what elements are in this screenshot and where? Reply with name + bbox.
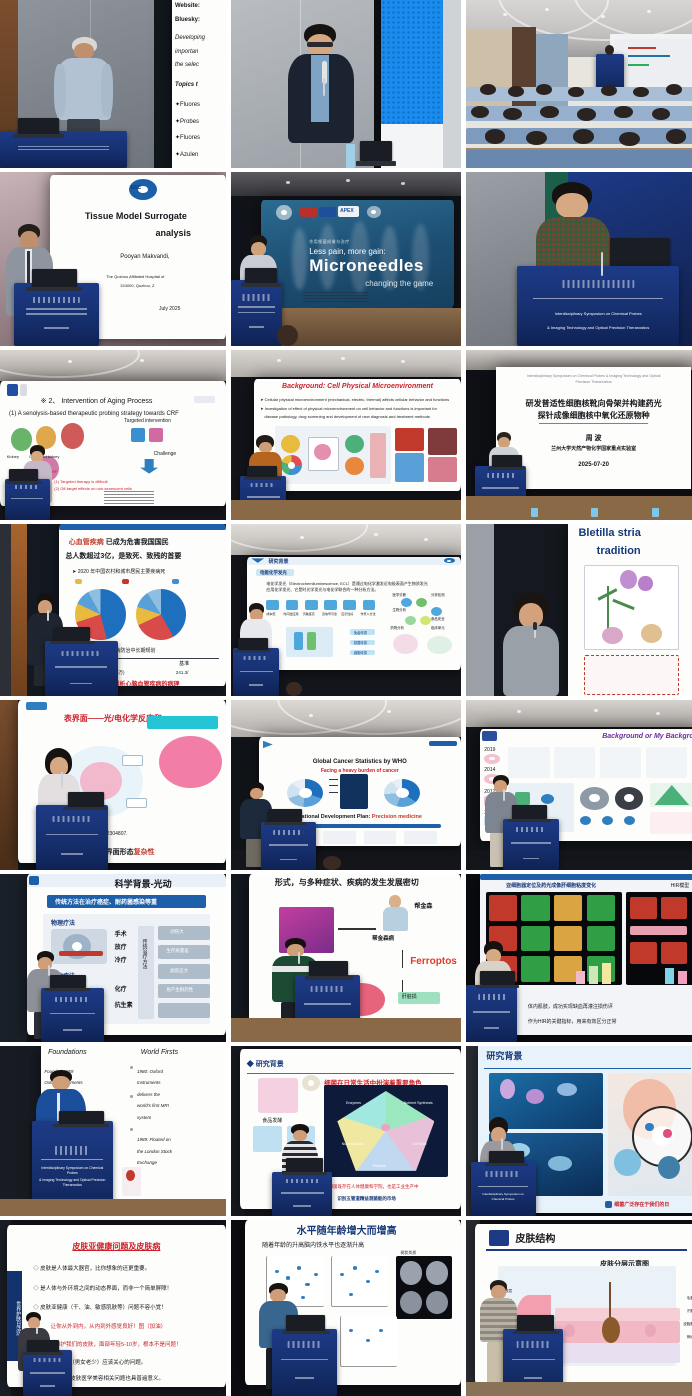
podium-banner-line1: Interdisciplinary Symposium on Chemical …	[476, 1192, 531, 1201]
laptop	[492, 455, 522, 467]
photo-cell[interactable]: 科学背景-光动 传统方法在治疗癌症、耐药菌感染等重 物理疗法 手术 放疗 冷疗 …	[0, 874, 226, 1042]
photo-cell[interactable]: APEX 作用细菌成像与治疗 Less pain, more gain: Mic…	[231, 172, 461, 346]
blue-backdrop	[381, 0, 443, 124]
photo-cell[interactable]: 皮肤结构 皮肤分层示意图 表皮层 真皮层 皮下组织 胆膜层 基底层 毛囊 汗腹	[466, 1220, 692, 1396]
slide-screen: Website: Bluesky: Developing importan th…	[172, 0, 226, 168]
podium	[272, 1329, 336, 1396]
scatter-plot-2	[331, 1256, 388, 1307]
laptop	[480, 971, 515, 984]
speaker	[503, 593, 559, 696]
photo-cell[interactable]: 形式，与多种症状、疾病的发生发展密切 帮金森病 帮金森 Ferroptos 肝脏…	[231, 874, 461, 1042]
photo-cell[interactable]: Background or My Backgro 2019 2014 2012 …	[466, 700, 692, 870]
photo-cell[interactable]: 亚细胞器定位及药光成像肝细胞粘度变化 HIR模型	[466, 874, 692, 1042]
photo-cell[interactable]	[466, 0, 692, 168]
photo-cell[interactable]	[231, 0, 461, 168]
podium	[41, 988, 104, 1042]
laptop	[50, 975, 86, 988]
slide-symposium-line: Interdisciplinary Symposium on Chemical …	[520, 373, 668, 385]
laptop	[286, 1158, 323, 1172]
podium	[503, 819, 559, 870]
podium: Interdisciplinary Symposium on Chemical …	[517, 266, 679, 346]
photo-cell[interactable]: Interdisciplinary Symposium on Chemical …	[466, 350, 692, 520]
laptop	[32, 269, 77, 286]
laptop	[68, 792, 104, 807]
photo-cell[interactable]: Foundations World Firsts Founded 1959 Ox…	[0, 1046, 226, 1216]
laptop	[245, 268, 277, 284]
podium	[272, 1172, 332, 1216]
photo-cell[interactable]: ※ 2、 Intervention of Aging Process (1) A…	[0, 350, 226, 520]
skin-layer-hypodermis	[555, 1343, 680, 1362]
podium	[261, 822, 316, 870]
skin-layer-epidermis	[555, 1308, 680, 1321]
laptop	[59, 1111, 104, 1125]
photo-cell[interactable]: 研究背景 电能化学发光 电化学发光（Electrochemiluminescen…	[231, 524, 461, 696]
laptop	[360, 141, 392, 161]
podium	[5, 479, 50, 520]
photo-cell[interactable]: Interdisciplinary Symposium on Chemical …	[466, 172, 692, 346]
pie-chart-urban	[136, 589, 186, 641]
photo-cell[interactable]: Background: Cell Physical Microenvironme…	[231, 350, 461, 520]
podium-banner-line1: Interdisciplinary Symposium on Chemical …	[38, 1166, 106, 1176]
photo-cell[interactable]: Global Cancer Statistics by WHO Facing a…	[231, 700, 461, 870]
slide-screen: Bletilla stria tradition	[568, 524, 692, 696]
laptop	[9, 469, 38, 481]
laptop	[18, 118, 59, 135]
podium	[45, 641, 117, 696]
laptop	[512, 805, 547, 819]
slide-screen: APEX 作用细菌成像与治疗 Less pain, more gain: Mic…	[261, 200, 454, 308]
donut-chart-2	[384, 779, 420, 807]
laptop	[247, 466, 277, 478]
laptop	[610, 238, 670, 269]
photo-cell[interactable]: 心血管疾病 已成为危害我国国民 总人数超过3亿，是致死、致残的首要 ➤ 2020…	[0, 524, 226, 696]
photo-cell[interactable]: ◆ 研究背景 细菌在日常生活中扮演着重要角色 食品发酵 Enzymes Nutr…	[231, 1046, 461, 1216]
laptop	[54, 627, 90, 641]
podium	[231, 280, 282, 346]
laptop	[286, 1315, 325, 1331]
photo-grid: Website: Bluesky: Developing importan th…	[0, 0, 692, 1384]
photo-cell[interactable]: EEC Tissue Model Surrogate analysis Pooy…	[0, 172, 226, 346]
podium-banner-line2: & Imaging Technology and Optical Precisi…	[525, 325, 671, 331]
podium	[14, 283, 100, 346]
laptop	[517, 1315, 554, 1331]
laptop	[309, 961, 348, 976]
speaker	[286, 24, 355, 168]
podium	[36, 805, 108, 870]
laptop	[27, 1340, 59, 1352]
podium	[233, 648, 279, 696]
photo-cell[interactable]: 表界面——光/电化学反应和 0, 2304807. 结构和界面形态复杂性	[0, 700, 226, 870]
podium	[466, 985, 517, 1042]
donut-chart-1	[287, 779, 323, 807]
podium-banner-line2: & Imaging Technology and Optical Precisi…	[36, 1178, 109, 1188]
podium	[23, 1350, 73, 1396]
photo-cell[interactable]: Website: Bluesky: Developing importan th…	[0, 0, 226, 168]
slide-screen: 研究背景 电能化学发光 电化学发光（Electrochemiluminescen…	[247, 557, 461, 671]
photo-cell[interactable]: 研究背景 细菌广泛存在于我们的日	[466, 1046, 692, 1216]
photo-cell[interactable]: 水平随年龄增大而增高 随着年龄的升高脑内铁水平也逐渐升高	[231, 1220, 461, 1396]
photo-cell[interactable]: 世界护肤日活动 皮肤亚健康问题及皮肤病 ◇ 皮肤是人体最大器官，比你想象的还更重…	[0, 1220, 226, 1396]
slide-screen: Background: Cell Physical Microenvironme…	[254, 379, 461, 491]
laptop	[268, 809, 303, 823]
photo-cell[interactable]: Bletilla stria tradition	[466, 524, 692, 696]
laptop	[489, 1151, 524, 1163]
podium-banner-line1: Interdisciplinary Symposium on Chemical …	[530, 311, 666, 317]
podium: Interdisciplinary Symposium on Chemical …	[471, 1162, 536, 1216]
laptop	[238, 638, 268, 650]
